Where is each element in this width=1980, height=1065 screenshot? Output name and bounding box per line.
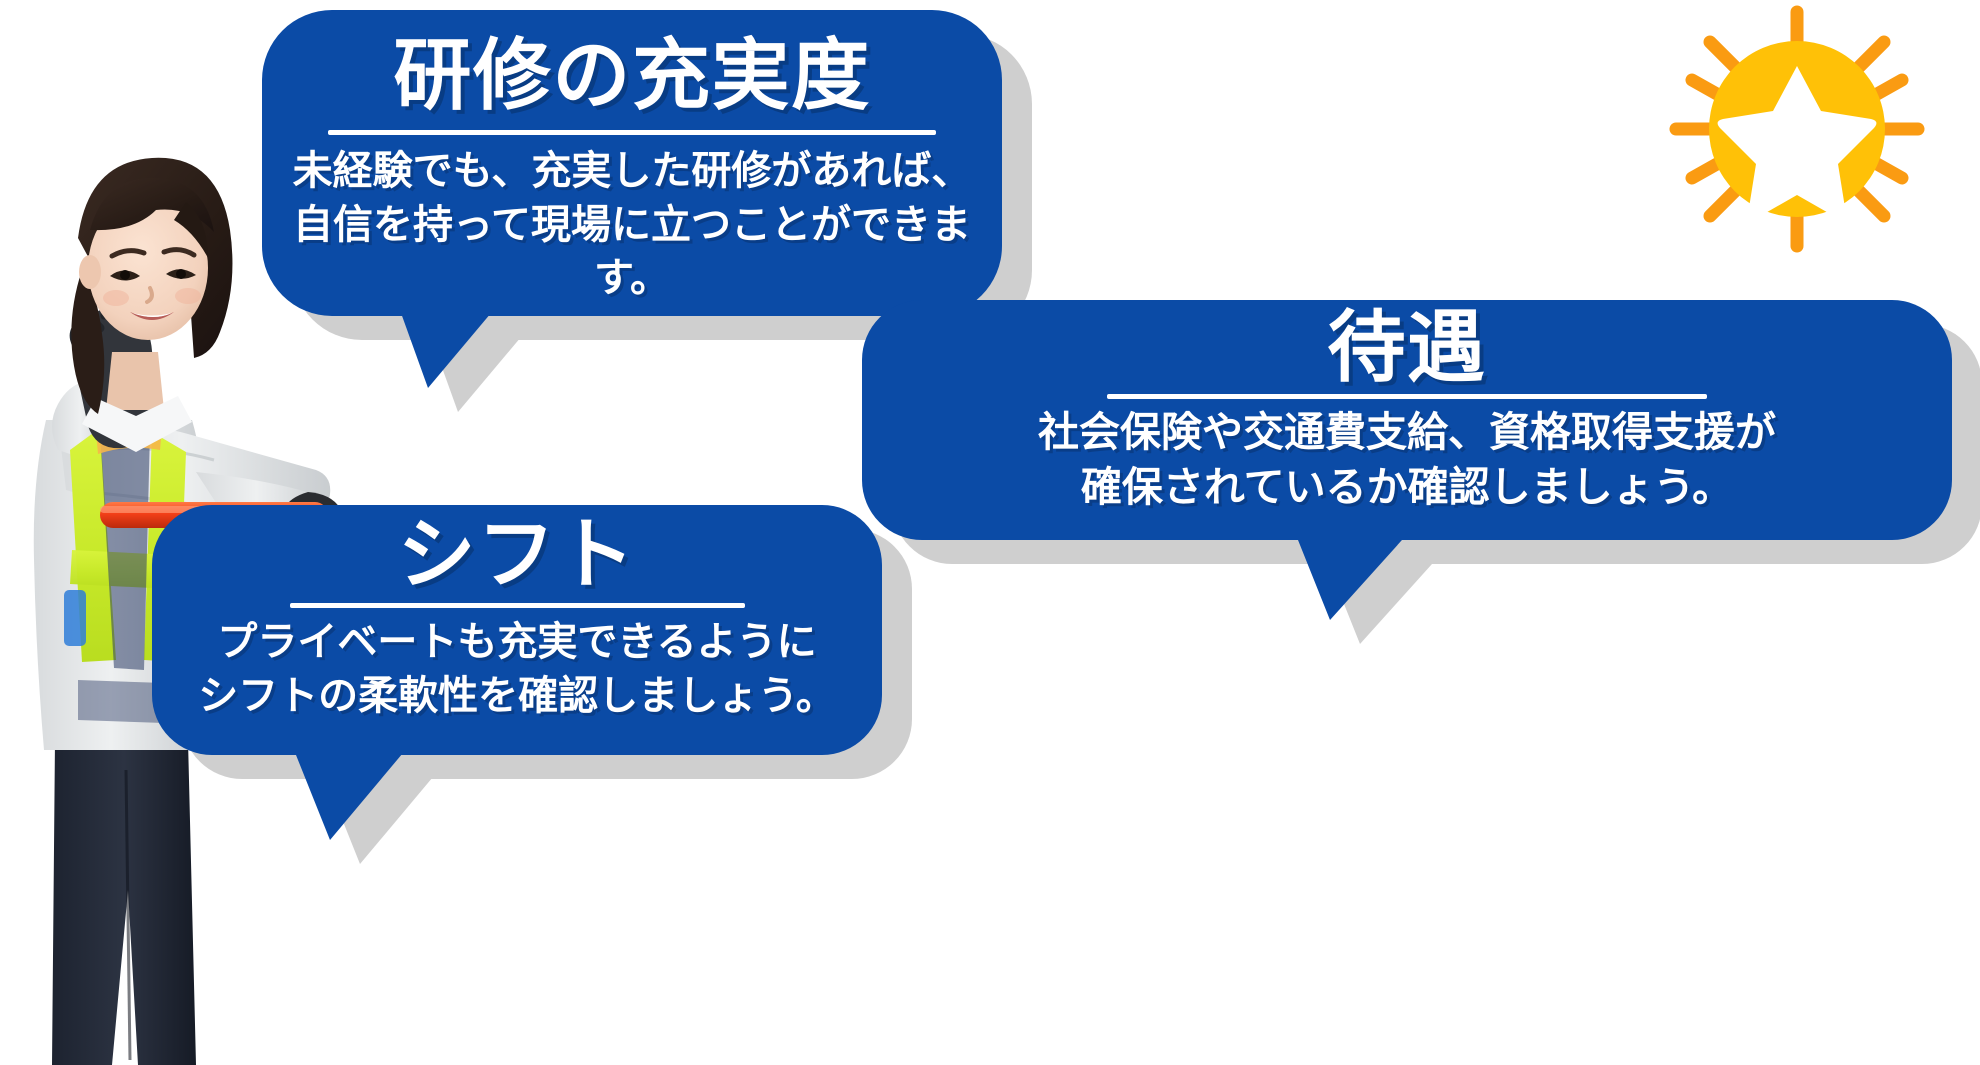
bubble-benefits: 待遇 社会保険や交通費支給、資格取得支援が 確保されているか確認しましょう。: [862, 300, 1952, 540]
bubble-training-title: 研修の充実度: [262, 10, 1002, 114]
bubble-benefits-body: 社会保険や交通費支給、資格取得支援が 確保されているか確認しましょう。: [862, 405, 1952, 515]
bubble-training: 研修の充実度 未経験でも、充実した研修があれば、 自信を持って現場に立つことがで…: [262, 10, 1002, 316]
bubble-benefits-title: 待遇: [862, 300, 1952, 386]
bubble-shift-title: シフト: [152, 505, 882, 593]
bubble-benefits-divider: [1107, 394, 1707, 399]
bubble-training-divider: [328, 130, 936, 135]
shining-star-icon: [1652, 4, 1942, 254]
bubble-training-body: 未経験でも、充実した研修があれば、 自信を持って現場に立つことができます。: [262, 145, 1002, 306]
bubble-shift-divider: [290, 603, 745, 608]
bubble-shift: シフト プライベートも充実できるように シフトの柔軟性を確認しましょう。: [152, 505, 882, 755]
poster-canvas: 研修の充実度 未経験でも、充実した研修があれば、 自信を持って現場に立つことがで…: [0, 0, 1980, 1065]
bubble-shift-body: プライベートも充実できるように シフトの柔軟性を確認しましょう。: [152, 616, 882, 723]
